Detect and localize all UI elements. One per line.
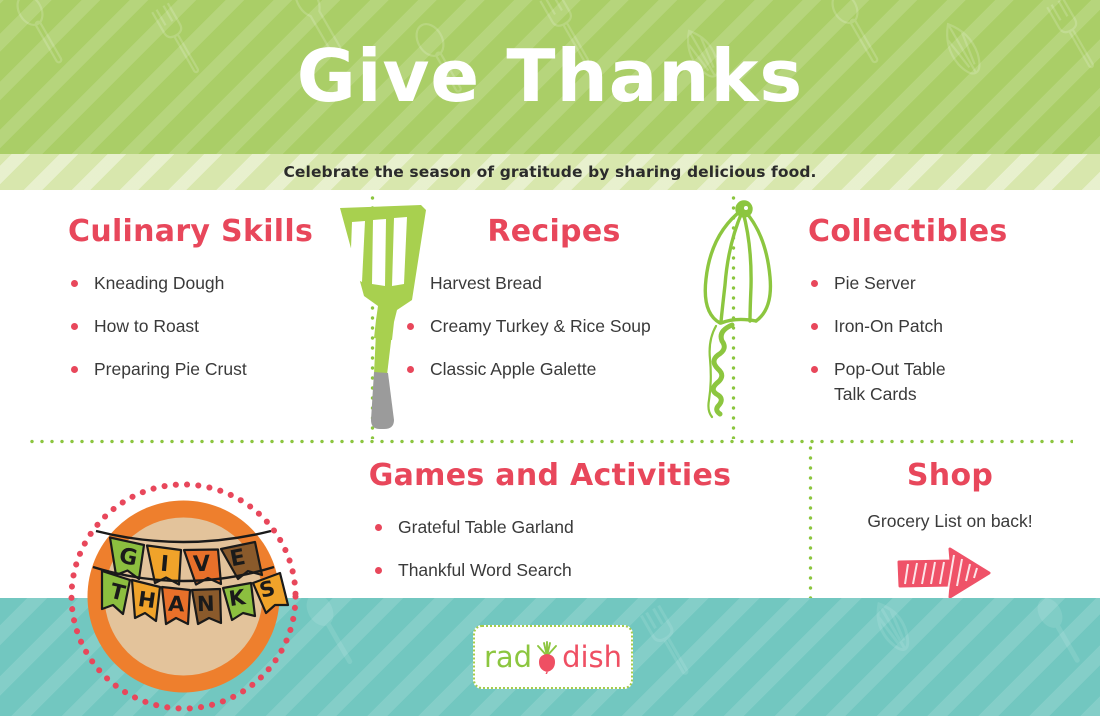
- section-title-recipes: Recipes: [404, 214, 704, 249]
- subheader-band: Celebrate the season of gratitude by sha…: [0, 154, 1100, 190]
- radish-icon: [533, 640, 561, 674]
- svg-text:H: H: [137, 587, 158, 613]
- list-item: Iron-On Patch: [808, 314, 1068, 339]
- section-collectibles: Collectibles Pie Server Iron-On Patch Po…: [808, 214, 1068, 424]
- list-culinary-skills: Kneading Dough How to Roast Preparing Pi…: [68, 271, 348, 382]
- divider-vertical-shop: [808, 443, 813, 600]
- section-games-and-activities: Games and Activities Grateful Table Garl…: [340, 458, 760, 601]
- list-item: Thankful Word Search: [372, 558, 760, 583]
- list-collectibles: Pie Server Iron-On Patch Pop-Out Table T…: [808, 271, 1068, 406]
- list-games-and-activities: Grateful Table Garland Thankful Word Sea…: [340, 515, 760, 583]
- list-item: Kneading Dough: [68, 271, 348, 296]
- section-title-collectibles: Collectibles: [808, 214, 1068, 249]
- list-recipes: Harvest Bread Creamy Turkey & Rice Soup …: [404, 271, 704, 382]
- list-item: Preparing Pie Crust: [68, 357, 348, 382]
- divider-horizontal-main: [27, 439, 1073, 444]
- svg-text:V: V: [193, 552, 211, 578]
- list-item: Grateful Table Garland: [372, 515, 760, 540]
- logo-text-dish: dish: [562, 643, 622, 672]
- header-subtitle: Celebrate the season of gratitude by sha…: [283, 163, 816, 181]
- whisk-icon: [688, 195, 792, 420]
- poster-canvas: Celebrate the season of gratitude by sha…: [0, 0, 1100, 716]
- section-culinary-skills: Culinary Skills Kneading Dough How to Ro…: [68, 214, 348, 400]
- spatula-icon: [334, 200, 430, 432]
- list-item: Pop-Out Table Talk Cards: [808, 357, 1068, 407]
- list-item: How to Roast: [68, 314, 348, 339]
- page-title: Give Thanks: [0, 40, 1100, 112]
- list-item: Pie Server: [808, 271, 1068, 296]
- section-title-shop: Shop: [820, 458, 1080, 493]
- logo-text-rad: rad: [484, 643, 532, 672]
- arrow-right-icon: [896, 546, 992, 600]
- section-shop: Shop Grocery List on back!: [820, 458, 1080, 532]
- svg-text:A: A: [168, 592, 186, 617]
- svg-text:N: N: [197, 592, 215, 617]
- list-item: Creamy Turkey & Rice Soup: [404, 314, 704, 339]
- shop-note: Grocery List on back!: [820, 511, 1080, 532]
- list-item: Harvest Bread: [404, 271, 704, 296]
- section-title-games-and-activities: Games and Activities: [340, 458, 760, 493]
- give-thanks-badge: G I V E: [66, 479, 301, 714]
- section-recipes: Recipes Harvest Bread Creamy Turkey & Ri…: [404, 214, 704, 400]
- section-title-culinary-skills: Culinary Skills: [68, 214, 348, 249]
- brand-logo[interactable]: rad dish: [473, 625, 633, 689]
- list-item: Classic Apple Galette: [404, 357, 704, 382]
